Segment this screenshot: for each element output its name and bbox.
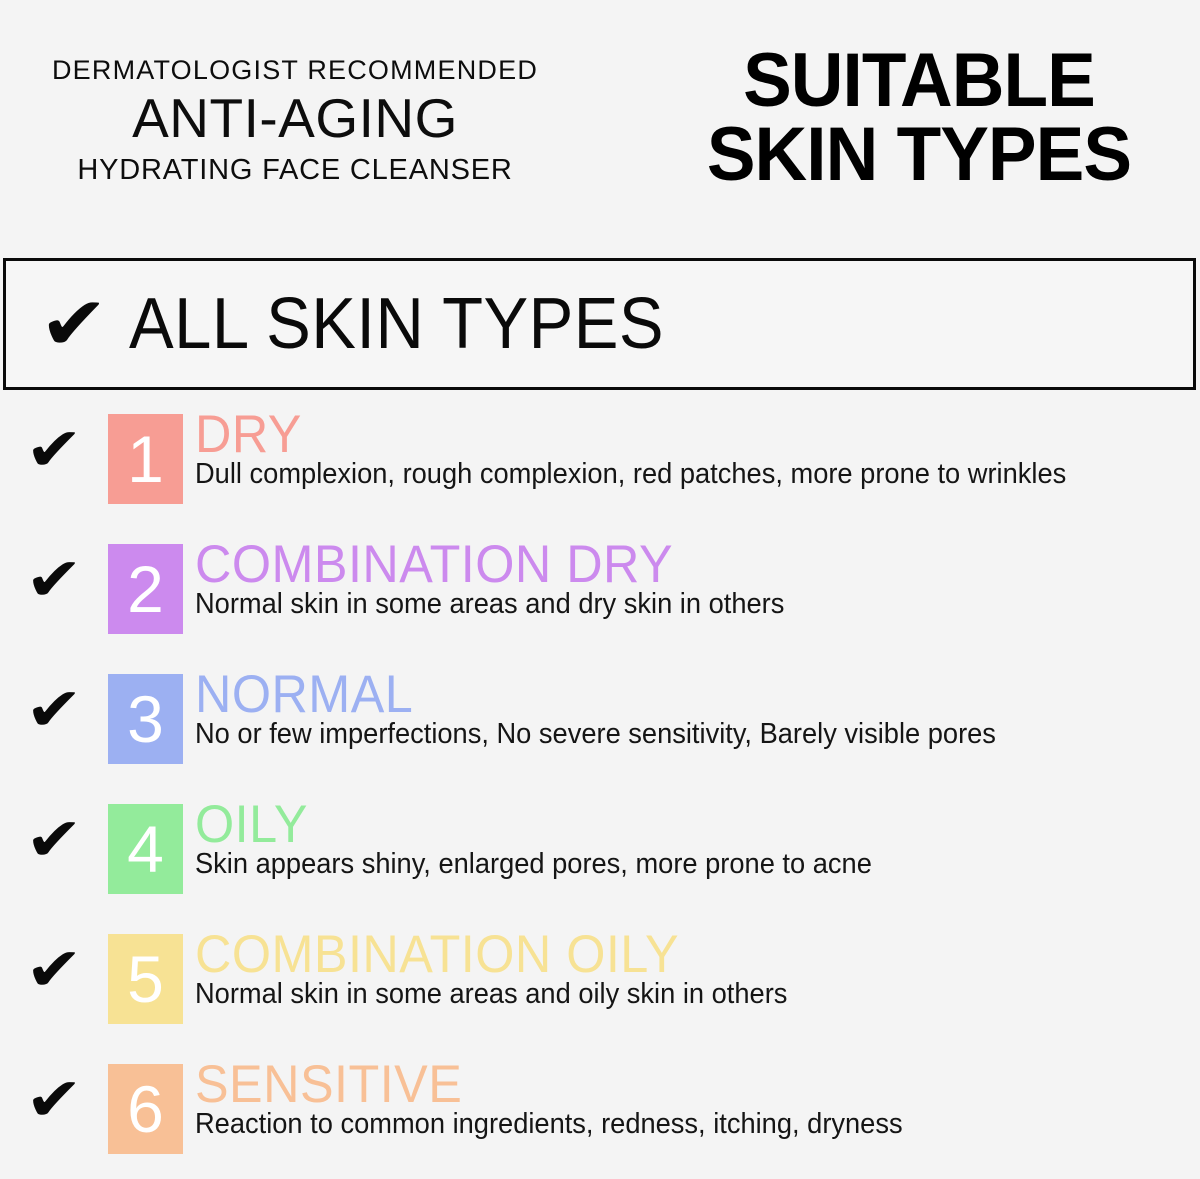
- skin-type-text: NORMALNo or few imperfections, No severe…: [183, 658, 1200, 750]
- checkmark-icon: ✔: [0, 528, 116, 610]
- skin-type-description: Reaction to common ingredients, redness,…: [195, 1109, 1140, 1140]
- skin-type-number-badge: 5: [108, 934, 183, 1024]
- skin-type-number-badge: 6: [108, 1064, 183, 1154]
- checkmark-icon: ✔: [39, 287, 108, 361]
- checkmark-icon: ✔: [0, 658, 116, 740]
- all-skin-types-label: ALL SKIN TYPES: [129, 283, 664, 365]
- skin-type-row: ✔4OILYSkin appears shiny, enlarged pores…: [0, 788, 1200, 918]
- skin-type-row: ✔1DRYDull complexion, rough complexion, …: [0, 398, 1200, 528]
- skin-type-description: Normal skin in some areas and dry skin i…: [195, 589, 1140, 620]
- skin-type-text: COMBINATION DRYNormal skin in some areas…: [183, 528, 1200, 620]
- header-banner: DERMATOLOGIST RECOMMENDED ANTI-AGING HYD…: [0, 0, 1200, 258]
- product-title-block: DERMATOLOGIST RECOMMENDED ANTI-AGING HYD…: [0, 56, 590, 185]
- product-eyebrow: DERMATOLOGIST RECOMMENDED: [0, 56, 590, 84]
- skin-type-title: NORMAL: [195, 668, 1150, 721]
- skin-type-title: DRY: [195, 408, 1150, 461]
- skin-type-number-badge: 3: [108, 674, 183, 764]
- skin-type-description: Dull complexion, rough complexion, red p…: [195, 459, 1140, 490]
- skin-type-text: DRYDull complexion, rough complexion, re…: [183, 398, 1200, 490]
- skin-type-title: OILY: [195, 798, 1150, 851]
- product-headline: ANTI-AGING: [0, 88, 590, 150]
- checkmark-icon: ✔: [0, 918, 116, 1000]
- skin-type-title: COMBINATION OILY: [195, 928, 1150, 981]
- skin-type-text: SENSITIVEReaction to common ingredients,…: [183, 1048, 1200, 1140]
- skin-type-row: ✔3NORMALNo or few imperfections, No seve…: [0, 658, 1200, 788]
- skin-type-row: ✔6SENSITIVEReaction to common ingredient…: [0, 1048, 1200, 1178]
- skin-type-number-badge: 2: [108, 544, 183, 634]
- suitable-heading-line-2: SKIN TYPES: [707, 118, 1131, 192]
- skin-type-number-badge: 1: [108, 414, 183, 504]
- checkmark-icon: ✔: [0, 788, 116, 870]
- skin-type-title: COMBINATION DRY: [195, 538, 1150, 591]
- skin-type-description: Skin appears shiny, enlarged pores, more…: [195, 849, 1140, 880]
- suitable-skin-types-heading: SUITABLE SKIN TYPES: [698, 44, 1140, 193]
- product-subline: HYDRATING FACE CLEANSER: [0, 155, 590, 185]
- all-skin-types-banner: ✔ ALL SKIN TYPES: [3, 258, 1196, 390]
- skin-type-text: OILYSkin appears shiny, enlarged pores, …: [183, 788, 1200, 880]
- skin-type-number-badge: 4: [108, 804, 183, 894]
- skin-type-text: COMBINATION OILYNormal skin in some area…: [183, 918, 1200, 1010]
- checkmark-icon: ✔: [0, 1048, 116, 1130]
- skin-type-description: Normal skin in some areas and oily skin …: [195, 979, 1140, 1010]
- skin-type-row: ✔5COMBINATION OILYNormal skin in some ar…: [0, 918, 1200, 1048]
- suitable-heading-line-1: SUITABLE: [707, 44, 1131, 118]
- skin-types-list: ✔1DRYDull complexion, rough complexion, …: [0, 398, 1200, 1178]
- skin-type-description: No or few imperfections, No severe sensi…: [195, 719, 1140, 750]
- checkmark-icon: ✔: [0, 398, 116, 480]
- skin-type-row: ✔2COMBINATION DRYNormal skin in some are…: [0, 528, 1200, 658]
- skin-type-title: SENSITIVE: [195, 1058, 1150, 1111]
